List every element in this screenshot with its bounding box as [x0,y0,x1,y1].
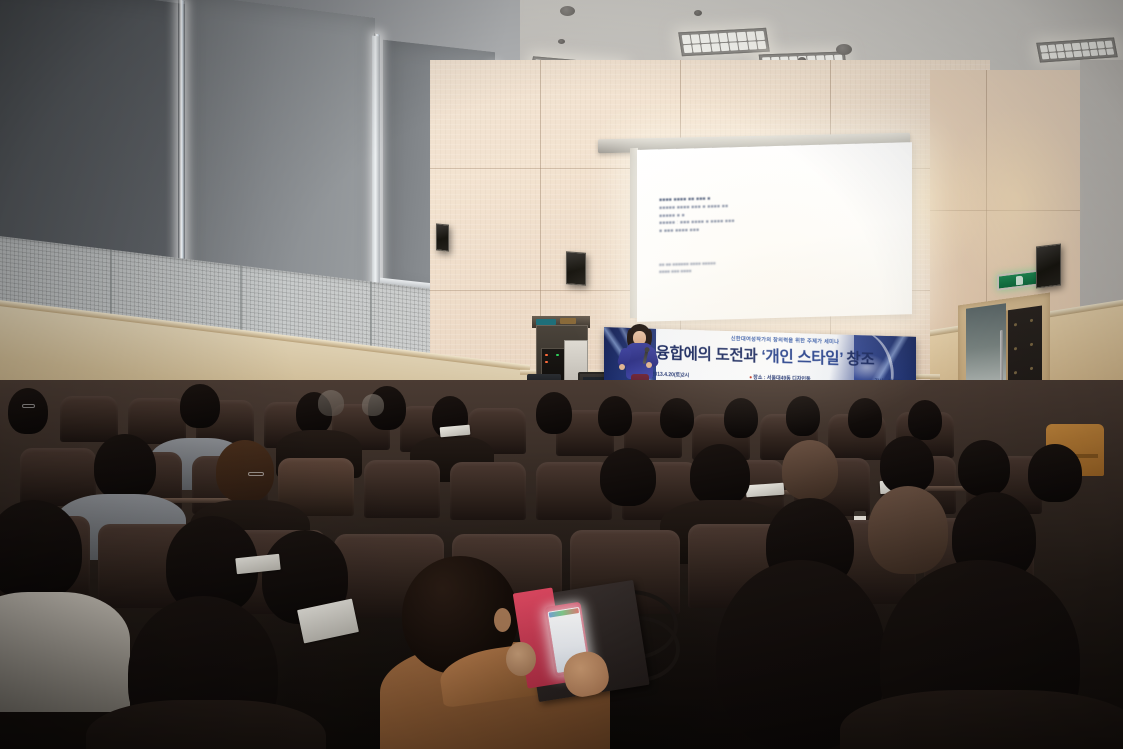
banner-title-part1: 융합에의 도전과 [656,345,758,365]
presenter-right-hand [646,362,652,368]
window-mullion [372,36,379,299]
audience-head [94,434,156,500]
foreground-attendee [398,556,718,749]
audience-head [362,394,384,416]
left-hand [506,642,536,676]
banner-title-quote: ‘개인 스타일’ [761,348,842,368]
audience-head [782,440,838,500]
audience-head [848,398,882,438]
audience-head [318,390,344,416]
audience-head [536,392,572,434]
eyeglasses-icon [248,472,264,476]
ceiling-speaker-icon [836,44,852,55]
slide-footer-text: ■■ ■■ ■■■■■■ ■■■■ ■■■■■ ■■■■ ■■■ ■■■■ [659,256,829,275]
audience-shoulders [840,690,1123,749]
banner-title-part2: 창조 [846,351,874,369]
wall-speaker-icon [1036,243,1061,288]
audience-head [598,396,632,436]
audience-head [786,396,820,436]
audience-head [908,400,942,440]
presenter-left-hand [619,364,625,370]
audience-head [660,398,694,438]
wall-speaker-icon [566,251,586,285]
wall-speaker-icon [436,223,449,251]
audience-head [216,440,274,502]
audience-shoulders [0,592,130,712]
audience-head [868,486,948,574]
projection-screen[interactable]: ■■■■ ■■■■ ■■ ■■■ ■ ■■■■■ ■■■■ ■■■ ■ ■■■■… [637,142,912,322]
audience-head [690,444,750,506]
audience-head [180,384,220,428]
audience-head [958,440,1010,496]
ear [494,608,511,632]
auditorium-seat[interactable] [364,460,440,518]
ceiling-light-icon [678,28,770,56]
auditorium-seat[interactable] [450,462,526,520]
audience-head [600,448,656,506]
smoke-detector-icon [558,39,565,44]
audience-head [8,388,48,434]
auditorium-seat[interactable] [60,396,118,442]
eyeglasses-icon [22,404,35,408]
ceiling-speaker-icon [560,6,575,16]
slide-body-text: ■■■■ ■■■■ ■■ ■■■ ■ ■■■■■ ■■■■ ■■■ ■ ■■■■… [659,192,849,236]
lecture-hall-photo: ■■■■ ■■■■ ■■ ■■■ ■ ■■■■■ ■■■■ ■■■ ■ ■■■■… [0,0,1123,749]
audience-head [1028,444,1082,502]
audience-shoulders [86,700,326,749]
sprinkler-icon [694,10,702,16]
audience-head [724,398,758,438]
